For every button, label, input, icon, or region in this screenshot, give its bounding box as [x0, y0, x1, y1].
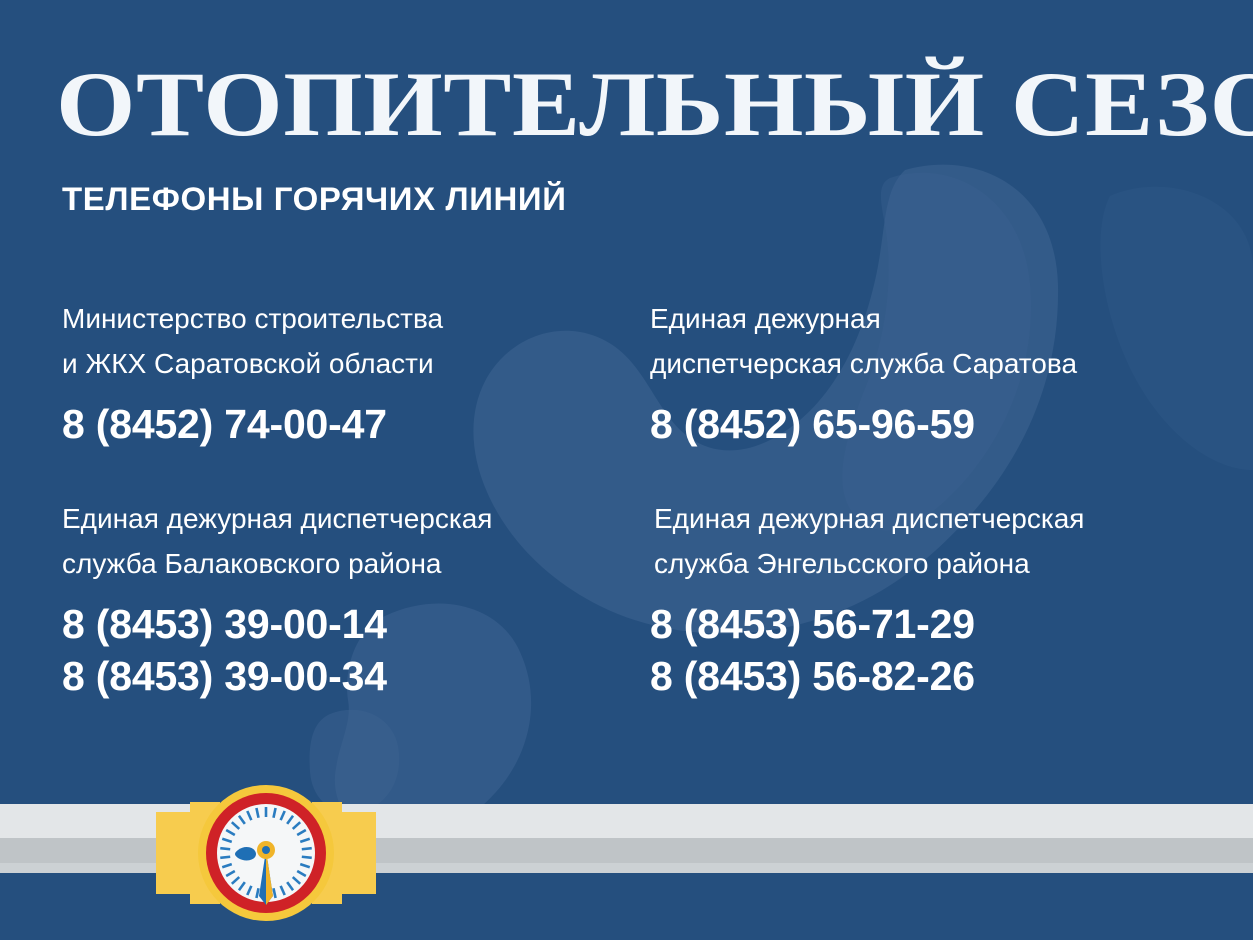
- page-subtitle: ТЕЛЕФОНЫ ГОРЯЧИХ ЛИНИЙ: [62, 180, 567, 218]
- phone-number[interactable]: 8 (8452) 74-00-47: [62, 398, 622, 450]
- phone-number[interactable]: 8 (8453) 39-00-34: [62, 650, 622, 702]
- contact-block-edds-balakovo: Единая дежурная диспетчерская служба Бал…: [62, 496, 622, 702]
- phone-number[interactable]: 8 (8453) 56-82-26: [650, 650, 1230, 702]
- phone-number[interactable]: 8 (8453) 39-00-14: [62, 598, 622, 650]
- phone-list: 8 (8453) 56-71-29 8 (8453) 56-82-26: [650, 598, 1230, 702]
- organization-name: Единая дежурная диспетчерская служба Энг…: [650, 496, 1230, 586]
- phone-list: 8 (8452) 65-96-59: [650, 398, 1230, 450]
- organization-name: Единая дежурная диспетчерская служба Сар…: [650, 296, 1230, 386]
- poster-root: ОТОПИТЕЛЬНЫЙ СЕЗОН ТЕЛЕФОНЫ ГОРЯЧИХ ЛИНИ…: [0, 0, 1253, 940]
- pressure-gauge-icon: [146, 766, 386, 940]
- contact-block-edds-engels: Единая дежурная диспетчерская служба Энг…: [650, 496, 1230, 702]
- page-title: ОТОПИТЕЛЬНЫЙ СЕЗОН: [56, 58, 1253, 150]
- organization-name: Единая дежурная диспетчерская служба Бал…: [62, 496, 622, 586]
- contact-block-edds-saratov: Единая дежурная диспетчерская служба Сар…: [650, 296, 1230, 450]
- phone-list: 8 (8453) 39-00-14 8 (8453) 39-00-34: [62, 598, 622, 702]
- contact-block-minstroy: Министерство строительства и ЖКХ Саратов…: [62, 296, 622, 450]
- phone-number[interactable]: 8 (8453) 56-71-29: [650, 598, 1230, 650]
- organization-name: Министерство строительства и ЖКХ Саратов…: [62, 296, 622, 386]
- phone-list: 8 (8452) 74-00-47: [62, 398, 622, 450]
- phone-number[interactable]: 8 (8452) 65-96-59: [650, 398, 1230, 450]
